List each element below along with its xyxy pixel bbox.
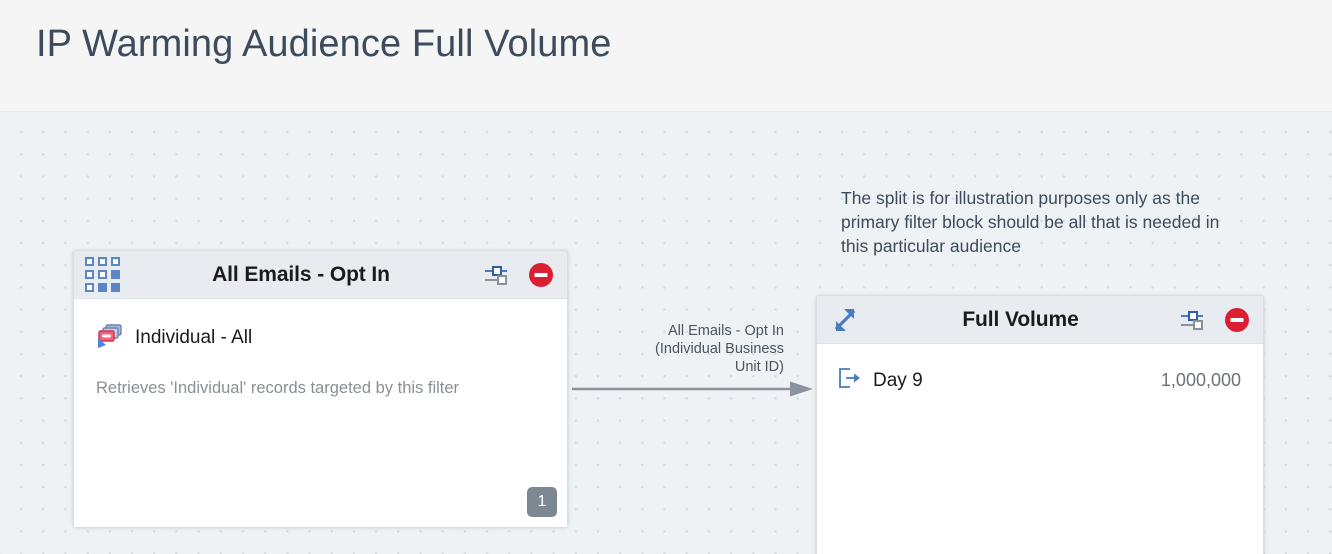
card-title: All Emails - Opt In [119, 263, 483, 287]
connector-label: All Emails - Opt In (Individual Business… [604, 322, 784, 376]
remove-icon[interactable] [528, 262, 554, 288]
card-header: Full Volume [817, 296, 1263, 344]
expand-arrows-icon[interactable] [828, 303, 862, 337]
card-header: All Emails - Opt In [74, 251, 567, 299]
connector-arrow[interactable] [572, 380, 814, 398]
volume-label: Day 9 [873, 370, 923, 392]
card-body: Individual - All Retrieves 'Individual' … [74, 299, 567, 527]
records-stack-icon [96, 322, 124, 353]
record-row[interactable]: Individual - All [96, 322, 545, 353]
volume-row[interactable]: Day 9 1,000,000 [837, 366, 1241, 395]
settings-sliders-icon[interactable] [483, 263, 509, 287]
card-header-actions [483, 262, 554, 288]
connector-label-line1: All Emails - Opt In [604, 322, 784, 340]
card-full-volume[interactable]: Full Volume [816, 295, 1264, 554]
card-title: Full Volume [862, 308, 1179, 332]
page-header: IP Warming Audience Full Volume [0, 0, 1332, 112]
card-all-emails-opt-in[interactable]: All Emails - Opt In [73, 250, 568, 527]
export-icon [837, 366, 861, 395]
remove-icon[interactable] [1224, 307, 1250, 333]
record-description: Retrieves 'Individual' records targeted … [96, 379, 545, 398]
annotation-note: The split is for illustration purposes o… [841, 186, 1245, 258]
connector-label-line2: (Individual Business [604, 340, 784, 358]
grid-icon [85, 258, 119, 292]
settings-sliders-icon[interactable] [1179, 308, 1205, 332]
page-title: IP Warming Audience Full Volume [36, 23, 612, 66]
card-body: Day 9 1,000,000 [817, 344, 1263, 554]
count-badge[interactable]: 1 [527, 487, 557, 517]
volume-value: 1,000,000 [1161, 370, 1241, 391]
record-label: Individual - All [135, 327, 252, 349]
card-header-actions [1179, 307, 1250, 333]
diagram-canvas[interactable]: The split is for illustration purposes o… [0, 112, 1332, 554]
connector-label-line3: Unit ID) [604, 358, 784, 376]
